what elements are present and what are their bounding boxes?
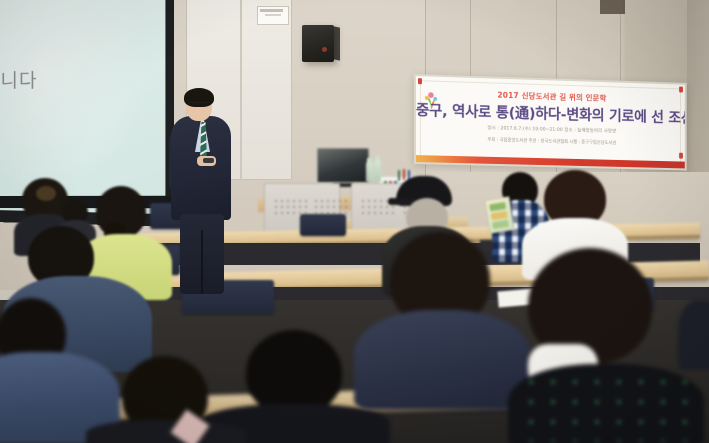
- lecture-room-photo: 합니다 2017 신당도서관 길 위의 인문학 중구, 역사로 통(通)하다-변…: [0, 0, 709, 443]
- event-banner: 2017 신당도서관 길 위의 인문학 중구, 역사로 통(通)하다-변화의 기…: [414, 74, 687, 170]
- banner-clip-icon: [679, 153, 683, 159]
- projection-screen-text: 합니다: [0, 66, 38, 93]
- trouser-seam: [201, 230, 203, 294]
- cabinet-door-split: [240, 0, 242, 180]
- projection-screen-surface: 합니다: [0, 0, 165, 214]
- water-bottle: [374, 160, 381, 182]
- chair: [300, 214, 346, 236]
- program-booklet: [484, 196, 514, 233]
- water-bottle: [366, 162, 373, 182]
- presentation-remote: [203, 158, 214, 163]
- laptop-monitor: [317, 148, 369, 183]
- speaker-icon: [302, 25, 334, 62]
- screen-glow: [0, 0, 165, 214]
- banner-clip-icon: [679, 87, 683, 93]
- speaker-side: [334, 26, 340, 60]
- cup: [480, 240, 493, 251]
- floral-pattern: [520, 372, 696, 442]
- door-notice-sign: [257, 6, 289, 25]
- glasses-icon: [189, 102, 209, 107]
- banner-clip-icon: [418, 78, 422, 84]
